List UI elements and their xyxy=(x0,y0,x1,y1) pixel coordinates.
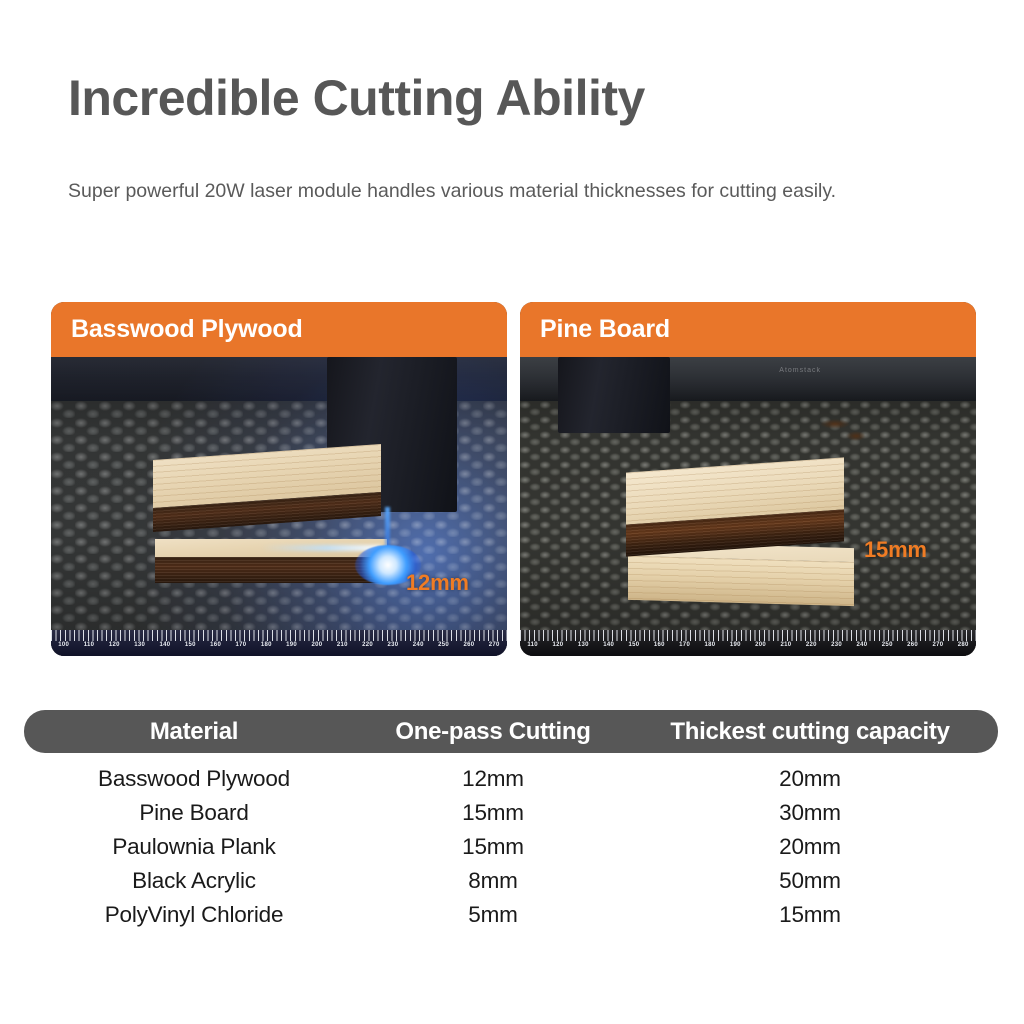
page-subtitle: Super powerful 20W laser module handles … xyxy=(68,176,908,208)
measurement-label-15mm: 15mm xyxy=(864,537,927,563)
ruler-number: 170 xyxy=(228,642,253,656)
ruler-number: 120 xyxy=(545,642,570,656)
cell-one-pass: 5mm xyxy=(364,902,622,928)
card-title-pine: Pine Board xyxy=(540,315,670,344)
ruler-number: 150 xyxy=(621,642,646,656)
ruler-number: 110 xyxy=(520,642,545,656)
ruler-number: 220 xyxy=(355,642,380,656)
ruler-number: 280 xyxy=(951,642,976,656)
table-header-row: Material One-pass Cutting Thickest cutti… xyxy=(24,710,998,753)
cutting-capacity-table: Material One-pass Cutting Thickest cutti… xyxy=(24,710,998,932)
ruler-number: 230 xyxy=(824,642,849,656)
ruler-ticks xyxy=(520,630,976,641)
ruler-number: 190 xyxy=(723,642,748,656)
ruler-number: 230 xyxy=(380,642,405,656)
demo-photo-cards: Basswood Plywood xyxy=(51,302,976,656)
cell-thickest: 30mm xyxy=(622,800,998,826)
ruler-number: 200 xyxy=(304,642,329,656)
bed-scorch-mark xyxy=(846,431,866,441)
table-header-material: Material xyxy=(24,718,364,746)
ruler-numbers: 110 120 130 140 150 160 170 180 190 200 … xyxy=(520,642,976,656)
table-row: Paulownia Plank 15mm 20mm xyxy=(24,830,998,864)
measurement-label-12mm: 12mm xyxy=(406,570,469,596)
ruler-number: 240 xyxy=(849,642,874,656)
table-header-thickest-cutting-capacity: Thickest cutting capacity xyxy=(622,718,998,746)
cell-one-pass: 15mm xyxy=(364,834,622,860)
ruler-numbers: 100 110 120 130 140 150 160 170 180 190 … xyxy=(51,642,507,656)
ruler-strip: 100 110 120 130 140 150 160 170 180 190 … xyxy=(51,630,507,656)
card-basswood-plywood: Basswood Plywood xyxy=(51,302,507,656)
card-pine-board: Pine Board Atomstack xyxy=(520,302,976,656)
card-header-basswood: Basswood Plywood xyxy=(51,302,507,357)
cell-material: PolyVinyl Chloride xyxy=(24,902,364,928)
page-title: Incredible Cutting Ability xyxy=(68,70,645,128)
cell-one-pass: 15mm xyxy=(364,800,622,826)
cell-thickest: 15mm xyxy=(622,902,998,928)
ruler-number: 210 xyxy=(773,642,798,656)
photo-basswood-cutting: 12mm 100 110 120 130 140 150 160 170 180… xyxy=(51,357,507,656)
ruler-number: 250 xyxy=(431,642,456,656)
ruler-number: 250 xyxy=(875,642,900,656)
photo-pine-board-result: Atomstack xyxy=(520,357,976,656)
ruler-strip: 110 120 130 140 150 160 170 180 190 200 … xyxy=(520,630,976,656)
card-title-basswood: Basswood Plywood xyxy=(71,315,303,344)
ruler-number: 240 xyxy=(406,642,431,656)
table-row: Pine Board 15mm 30mm xyxy=(24,796,998,830)
ruler-number: 140 xyxy=(152,642,177,656)
cell-thickest: 50mm xyxy=(622,868,998,894)
marketing-page: Incredible Cutting Ability Super powerfu… xyxy=(0,0,1024,1024)
ruler-number: 260 xyxy=(900,642,925,656)
ruler-number: 200 xyxy=(748,642,773,656)
ruler-number: 190 xyxy=(279,642,304,656)
ruler-number: 170 xyxy=(672,642,697,656)
cell-thickest: 20mm xyxy=(622,834,998,860)
ruler-number: 160 xyxy=(203,642,228,656)
ruler-number: 180 xyxy=(254,642,279,656)
ruler-number: 130 xyxy=(127,642,152,656)
cell-material: Paulownia Plank xyxy=(24,834,364,860)
ruler-number: 100 xyxy=(51,642,76,656)
cell-thickest: 20mm xyxy=(622,766,998,792)
ruler-number: 180 xyxy=(697,642,722,656)
cell-material: Black Acrylic xyxy=(24,868,364,894)
ruler-ticks xyxy=(51,630,507,641)
pine-piece-upper xyxy=(626,457,844,556)
table-row: Basswood Plywood 12mm 20mm xyxy=(24,762,998,796)
ruler-number: 270 xyxy=(482,642,507,656)
ruler-number: 110 xyxy=(76,642,101,656)
ruler-number: 160 xyxy=(647,642,672,656)
cell-material: Pine Board xyxy=(24,800,364,826)
ruler-number: 150 xyxy=(178,642,203,656)
table-body: Basswood Plywood 12mm 20mm Pine Board 15… xyxy=(24,762,998,932)
ruler-number: 210 xyxy=(330,642,355,656)
bed-scorch-mark xyxy=(820,419,850,429)
laser-kerf-glow xyxy=(261,545,381,551)
ruler-number: 270 xyxy=(925,642,950,656)
ruler-number: 130 xyxy=(571,642,596,656)
ruler-number: 220 xyxy=(799,642,824,656)
ruler-number: 140 xyxy=(596,642,621,656)
card-header-pine: Pine Board xyxy=(520,302,976,357)
table-row: PolyVinyl Chloride 5mm 15mm xyxy=(24,898,998,932)
table-row: Black Acrylic 8mm 50mm xyxy=(24,864,998,898)
ruler-number: 260 xyxy=(456,642,481,656)
ruler-number: 120 xyxy=(102,642,127,656)
cell-one-pass: 12mm xyxy=(364,766,622,792)
cell-material: Basswood Plywood xyxy=(24,766,364,792)
cell-one-pass: 8mm xyxy=(364,868,622,894)
laser-module xyxy=(558,357,670,433)
table-header-one-pass-cutting: One-pass Cutting xyxy=(364,718,622,746)
